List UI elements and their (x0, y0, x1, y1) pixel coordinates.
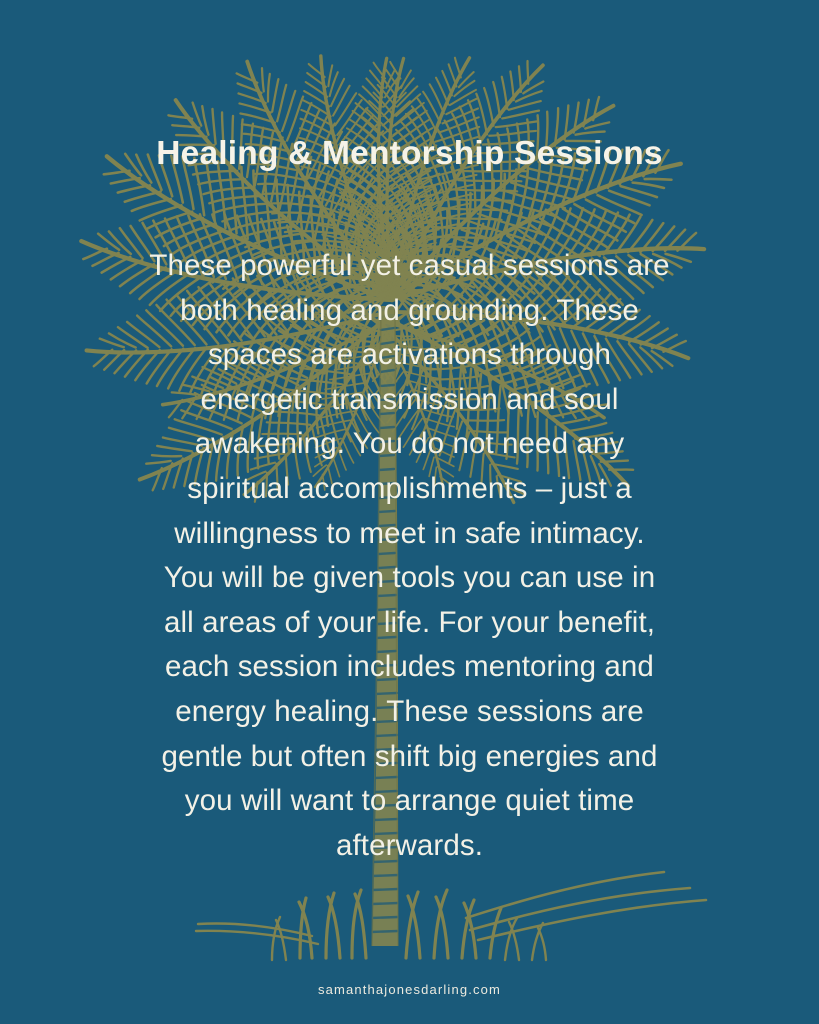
body-paragraph: These powerful yet casual sessions are b… (0, 244, 819, 868)
body-line: energy healing. These sessions are (0, 690, 819, 735)
poster-canvas: Healing & Mentorship Sessions These powe… (0, 0, 819, 1024)
body-line: all areas of your life. For your benefit… (0, 601, 819, 646)
body-line: each session includes mentoring and (0, 645, 819, 690)
website-footer: samanthajonesdarling.com (0, 981, 819, 999)
body-line: awakening. You do not need any (0, 422, 819, 467)
body-line: These powerful yet casual sessions are (0, 244, 819, 289)
body-line: gentle but often shift big energies and (0, 735, 819, 780)
body-line: willingness to meet in safe intimacy. (0, 512, 819, 557)
body-line: You will be given tools you can use in (0, 556, 819, 601)
body-line: energetic transmission and soul (0, 378, 819, 423)
poster-content: Healing & Mentorship Sessions These powe… (0, 0, 819, 1024)
body-line: spiritual accomplishments – just a (0, 467, 819, 512)
body-line: afterwards. (0, 824, 819, 869)
body-line: you will want to arrange quiet time (0, 779, 819, 824)
page-title: Healing & Mentorship Sessions (0, 134, 819, 174)
body-line: both healing and grounding. These (0, 289, 819, 334)
body-line: spaces are activations through (0, 333, 819, 378)
